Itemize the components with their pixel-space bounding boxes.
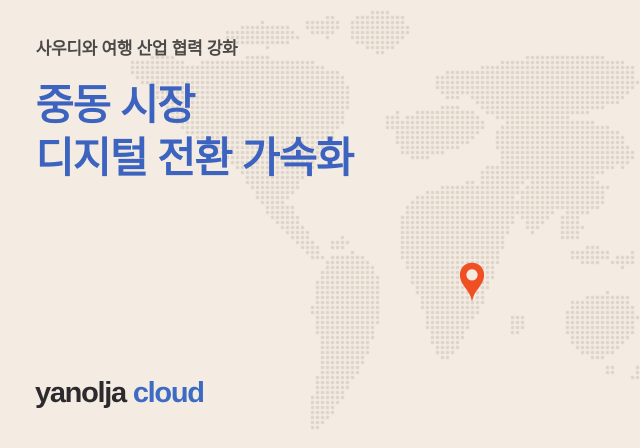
- logo-word-yanolja: yanolja: [35, 377, 126, 410]
- brand-logo: yanolja cloud: [35, 377, 204, 410]
- page-title: 중동 시장 디지털 전환 가속화: [36, 78, 596, 186]
- eyebrow-text: 사우디와 여행 산업 협력 강화: [36, 36, 596, 62]
- headline-line-1: 중동 시장: [36, 78, 596, 132]
- map-pin-icon: [459, 262, 485, 302]
- logo-word-cloud: cloud: [133, 377, 204, 410]
- text-block: 사우디와 여행 산업 협력 강화 중동 시장 디지털 전환 가속화: [36, 36, 596, 185]
- promo-card: 사우디와 여행 산업 협력 강화 중동 시장 디지털 전환 가속화 yanolj…: [0, 0, 640, 448]
- headline-line-2: 디지털 전환 가속화: [36, 131, 596, 185]
